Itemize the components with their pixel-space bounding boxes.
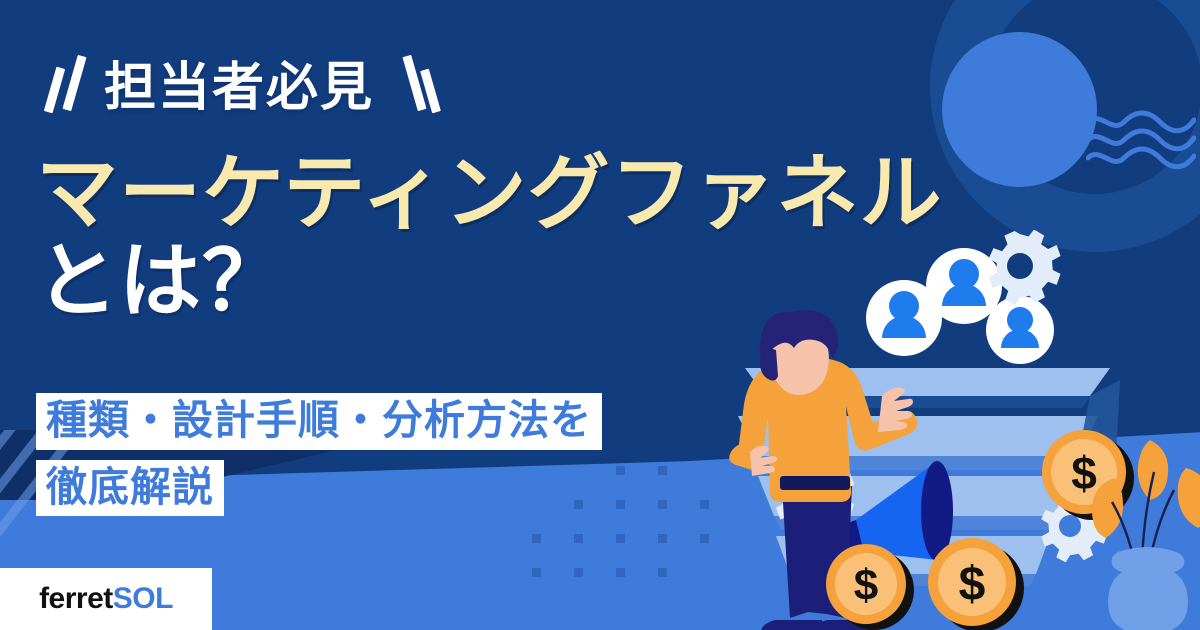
page-title: マーケティングファネル とは？	[36, 152, 942, 323]
wave-lines-icon	[1086, 110, 1196, 170]
subtitle-line-1: 種類・設計手順・分析方法を	[36, 393, 602, 450]
banner-canvas: $ $ $ 担当者必見 マー	[0, 0, 1200, 630]
eyebrow-row: 担当者必見	[44, 52, 434, 124]
eyebrow-label: 担当者必見	[104, 62, 374, 114]
brand-logo[interactable]: ferretSOL	[0, 568, 212, 630]
svg-text:$: $	[959, 558, 986, 611]
logo-primary-text: ferret	[39, 582, 113, 615]
logo-text-group: ferretSOL	[39, 582, 173, 616]
slash-marks-left-icon	[44, 55, 90, 121]
slash-marks-right-icon	[388, 55, 434, 121]
circle-shape-icon	[942, 32, 1097, 187]
svg-text:$: $	[1071, 447, 1097, 499]
svg-text:$: $	[854, 561, 878, 610]
title-line-2: とは？	[36, 240, 942, 324]
title-line-1: マーケティングファネル	[36, 152, 942, 236]
logo-secondary-text: SOL	[113, 582, 173, 615]
subtitle-block: 種類・設計手順・分析方法を 徹底解説	[36, 393, 602, 516]
subtitle-line-2: 徹底解説	[36, 460, 224, 517]
